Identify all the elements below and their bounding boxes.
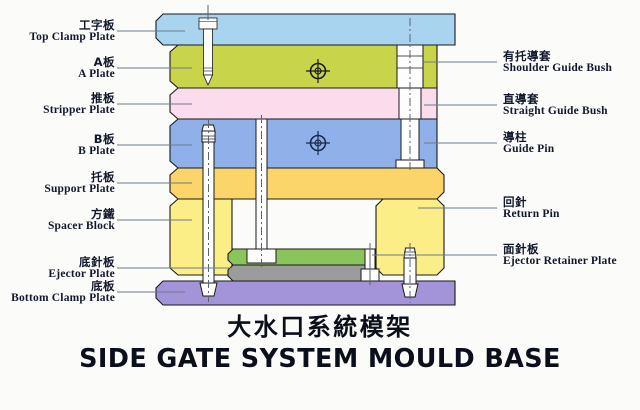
label-support-plate: 托板 Support Plate	[44, 171, 115, 196]
label-stripper-plate: 推板 Stripper Plate	[43, 92, 115, 117]
label-bottom-clamp-plate: 底板 Bottom Clamp Plate	[11, 280, 115, 305]
label-a-plate: A板 A Plate	[78, 56, 115, 81]
label-ejector-plate: 底針板 Ejector Plate	[48, 256, 115, 281]
label-return-pin: 回針 Return Pin	[503, 196, 560, 221]
label-b-plate: B板 B Plate	[78, 133, 115, 158]
label-straight-guide-bush: 直導套 Straight Guide Bush	[503, 93, 608, 118]
label-ejector-retainer-plate: 面針板 Ejector Retainer Plate	[503, 243, 617, 268]
label-cn: 推板	[43, 92, 115, 104]
label-spacer-block: 方鐵 Spacer Block	[48, 208, 115, 233]
label-cn: 工字板	[29, 19, 115, 31]
label-cn: 有托導套	[503, 50, 612, 62]
return-pin	[402, 243, 418, 303]
label-cn: 底板	[11, 280, 115, 292]
label-cn: 底針板	[48, 256, 115, 268]
label-en: Stripper Plate	[43, 104, 115, 116]
label-guide-pin: 導柱 Guide Pin	[503, 131, 554, 156]
label-cn: A板	[78, 56, 115, 68]
label-shoulder-guide-bush: 有托導套 Shoulder Guide Bush	[503, 50, 612, 75]
label-en: A Plate	[78, 68, 115, 80]
label-en: Top Clamp Plate	[29, 31, 115, 43]
label-cn: 托板	[44, 171, 115, 183]
label-en: Bottom Clamp Plate	[11, 292, 115, 304]
title-english: SIDE GATE SYSTEM MOULD BASE	[0, 344, 640, 375]
label-en: Shoulder Guide Bush	[503, 62, 612, 74]
label-en: Ejector Retainer Plate	[503, 255, 617, 267]
label-en: Straight Guide Bush	[503, 105, 608, 117]
title-chinese: 大水口系統模架	[0, 312, 640, 342]
stripper-plate	[170, 88, 437, 119]
diagram-title: 大水口系統模架 SIDE GATE SYSTEM MOULD BASE	[0, 312, 640, 375]
label-en: Guide Pin	[503, 143, 554, 155]
left-ejector-pin-assembly	[200, 120, 217, 302]
label-top-clamp-plate: 工字板 Top Clamp Plate	[29, 19, 115, 44]
label-en: Return Pin	[503, 208, 560, 220]
label-cn: 導柱	[503, 131, 554, 143]
label-en: Spacer Block	[48, 220, 115, 232]
ejector-plate	[228, 265, 374, 281]
label-cn: 方鐵	[48, 208, 115, 220]
mould-base-diagram-page: 工字板 Top Clamp Plate A板 A Plate 推板 Stripp…	[0, 0, 640, 410]
label-cn: 面針板	[503, 243, 617, 255]
label-cn: B板	[78, 133, 115, 145]
label-en: Support Plate	[44, 183, 115, 195]
label-cn: 直導套	[503, 93, 608, 105]
label-en: B Plate	[78, 145, 115, 157]
label-cn: 回針	[503, 196, 560, 208]
